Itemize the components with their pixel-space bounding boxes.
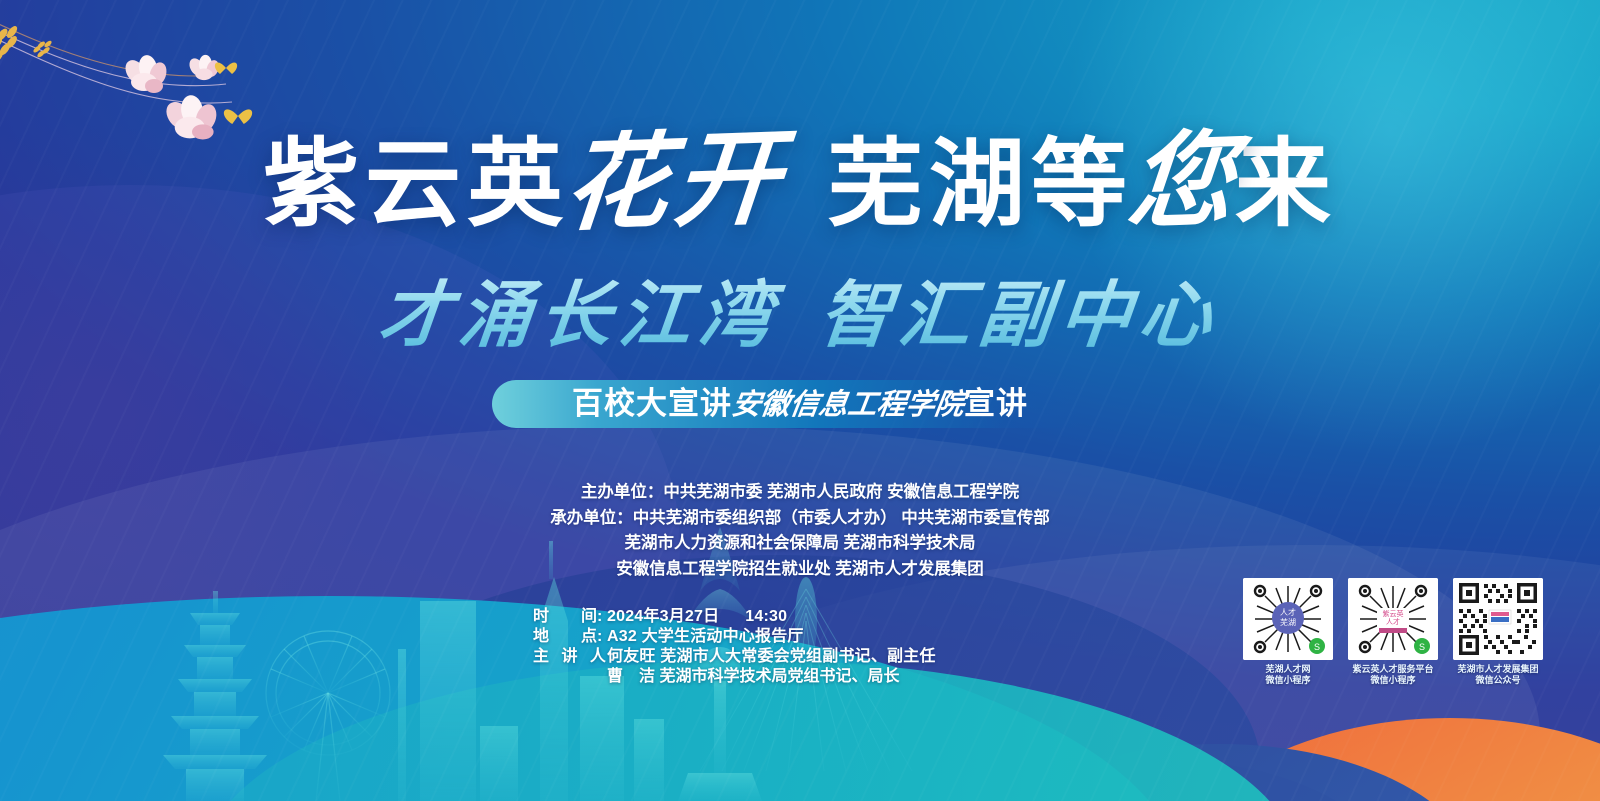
banner-school-name: 安徽信息工程学院 xyxy=(729,380,968,428)
svg-text:S: S xyxy=(1419,642,1425,652)
qr-caption: 芜湖人才网 微信小程序 xyxy=(1243,664,1333,686)
qr-caption-line1: 紫云英人才服务平台 xyxy=(1352,664,1433,674)
svg-text:紫云英: 紫云英 xyxy=(1383,609,1404,618)
hill-teal xyxy=(440,722,980,801)
qr-caption: 紫云英人才服务平台 微信小程序 xyxy=(1348,664,1438,686)
qr-caption-line1: 芜湖人才网 xyxy=(1265,664,1310,674)
hill-blue xyxy=(930,760,1400,801)
subtitle-left: 才涌长江湾 xyxy=(375,272,784,357)
headline-part1: 紫云英 xyxy=(263,131,569,238)
qr-code-image[interactable]: 人才 芜湖 S xyxy=(1243,578,1333,660)
speaker-value-2: 曹 洁 芜湖市科学技术局党组书记、局长 xyxy=(533,668,936,687)
organizer-line: 承办单位：中共芜湖市委组织部（市委人才办） 中共芜湖市委宣传部 xyxy=(0,506,1600,532)
banner-prefix: 百校大宣讲 xyxy=(572,386,732,421)
detail-row-speaker: 主 讲 人: 何友旺 芜湖市人大常委会党组副书记、副主任 xyxy=(533,648,936,667)
qr-caption-line2: 微信公众号 xyxy=(1453,675,1543,686)
svg-text:芜湖: 芜湖 xyxy=(1280,617,1296,627)
qr-code-image[interactable]: 紫云英 人才 S xyxy=(1348,578,1438,660)
qr-code-image[interactable] xyxy=(1453,578,1543,660)
organizer-line: 芜湖市人力资源和社会保障局 芜湖市科学技术局 xyxy=(0,531,1600,557)
time-value: 2024年3月27日14:30 xyxy=(607,608,787,627)
detail-row-place: 地 点: A32 大学生活动中心报告厅 xyxy=(533,628,936,647)
campaign-banner-text: 百校大宣讲安徽信息工程学院宣讲 xyxy=(0,380,1600,428)
butterfly xyxy=(215,62,252,124)
qr-caption-line2: 微信小程序 xyxy=(1348,675,1438,686)
hill-yellow xyxy=(830,737,1250,801)
subtitle-right: 智汇副中心 xyxy=(815,272,1224,357)
banner-suffix: 宣讲 xyxy=(964,386,1028,421)
svg-text:S: S xyxy=(1314,642,1320,652)
page-title: 紫云英花开芜湖等您来 xyxy=(0,126,1600,236)
place-label: 地 点: xyxy=(533,628,607,647)
headline-part2: 芜湖等 xyxy=(827,131,1133,238)
time-clock: 14:30 xyxy=(745,608,787,625)
wheat-sprig xyxy=(0,21,55,72)
hill-orange xyxy=(1170,718,1600,801)
qr-code-group: 人才 芜湖 S 芜湖人才网 微信小程序 xyxy=(1243,578,1543,686)
svg-text:人才: 人才 xyxy=(1280,607,1296,617)
qr-item-talent-platform[interactable]: 紫云英 人才 S 紫云英人才服务平台 微信小程序 xyxy=(1348,578,1438,686)
page-subtitle: 才涌长江湾智汇副中心 xyxy=(0,256,1600,361)
wechat-qr-icon xyxy=(1453,578,1543,660)
organizer-block: 主办单位：中共芜湖市委 芜湖市人民政府 安徽信息工程学院 承办单位：中共芜湖市委… xyxy=(0,480,1600,582)
qr-caption-line2: 微信小程序 xyxy=(1243,675,1333,686)
hill-green xyxy=(700,750,1160,801)
miniprogram-qr-icon: 人才 芜湖 S xyxy=(1243,578,1333,660)
svg-text:人才: 人才 xyxy=(1386,617,1400,626)
place-value: A32 大学生活动中心报告厅 xyxy=(607,628,804,647)
floral-decoration xyxy=(0,6,276,146)
headline-cursive1: 花开 xyxy=(560,122,790,239)
qr-caption: 芜湖市人才发展集团 微信公众号 xyxy=(1453,664,1543,686)
headline-part3: 来 xyxy=(1235,131,1337,238)
organizer-line: 主办单位：中共芜湖市委 芜湖市人民政府 安徽信息工程学院 xyxy=(0,480,1600,506)
speaker-label: 主 讲 人: xyxy=(533,648,607,667)
headline-cursive2: 您 xyxy=(1124,124,1244,237)
miniprogram-qr-icon: 紫云英 人才 S xyxy=(1348,578,1438,660)
qr-item-talent-group[interactable]: 芜湖市人才发展集团 微信公众号 xyxy=(1453,578,1543,686)
qr-item-talent-net[interactable]: 人才 芜湖 S 芜湖人才网 微信小程序 xyxy=(1243,578,1333,686)
event-details-block: 时 间: 2024年3月27日14:30 地 点: A32 大学生活动中心报告厅… xyxy=(533,608,936,687)
poster-canvas: 紫云英花开芜湖等您来 才涌长江湾智汇副中心 百校大宣讲安徽信息工程学院宣讲 主办… xyxy=(0,0,1600,801)
detail-row-time: 时 间: 2024年3月27日14:30 xyxy=(533,608,936,627)
time-label: 时 间: xyxy=(533,608,607,627)
qr-caption-line1: 芜湖市人才发展集团 xyxy=(1457,664,1538,674)
speaker-value-1: 何友旺 芜湖市人大常委会党组副书记、副主任 xyxy=(607,648,936,667)
hill-blue-right xyxy=(960,744,1480,801)
